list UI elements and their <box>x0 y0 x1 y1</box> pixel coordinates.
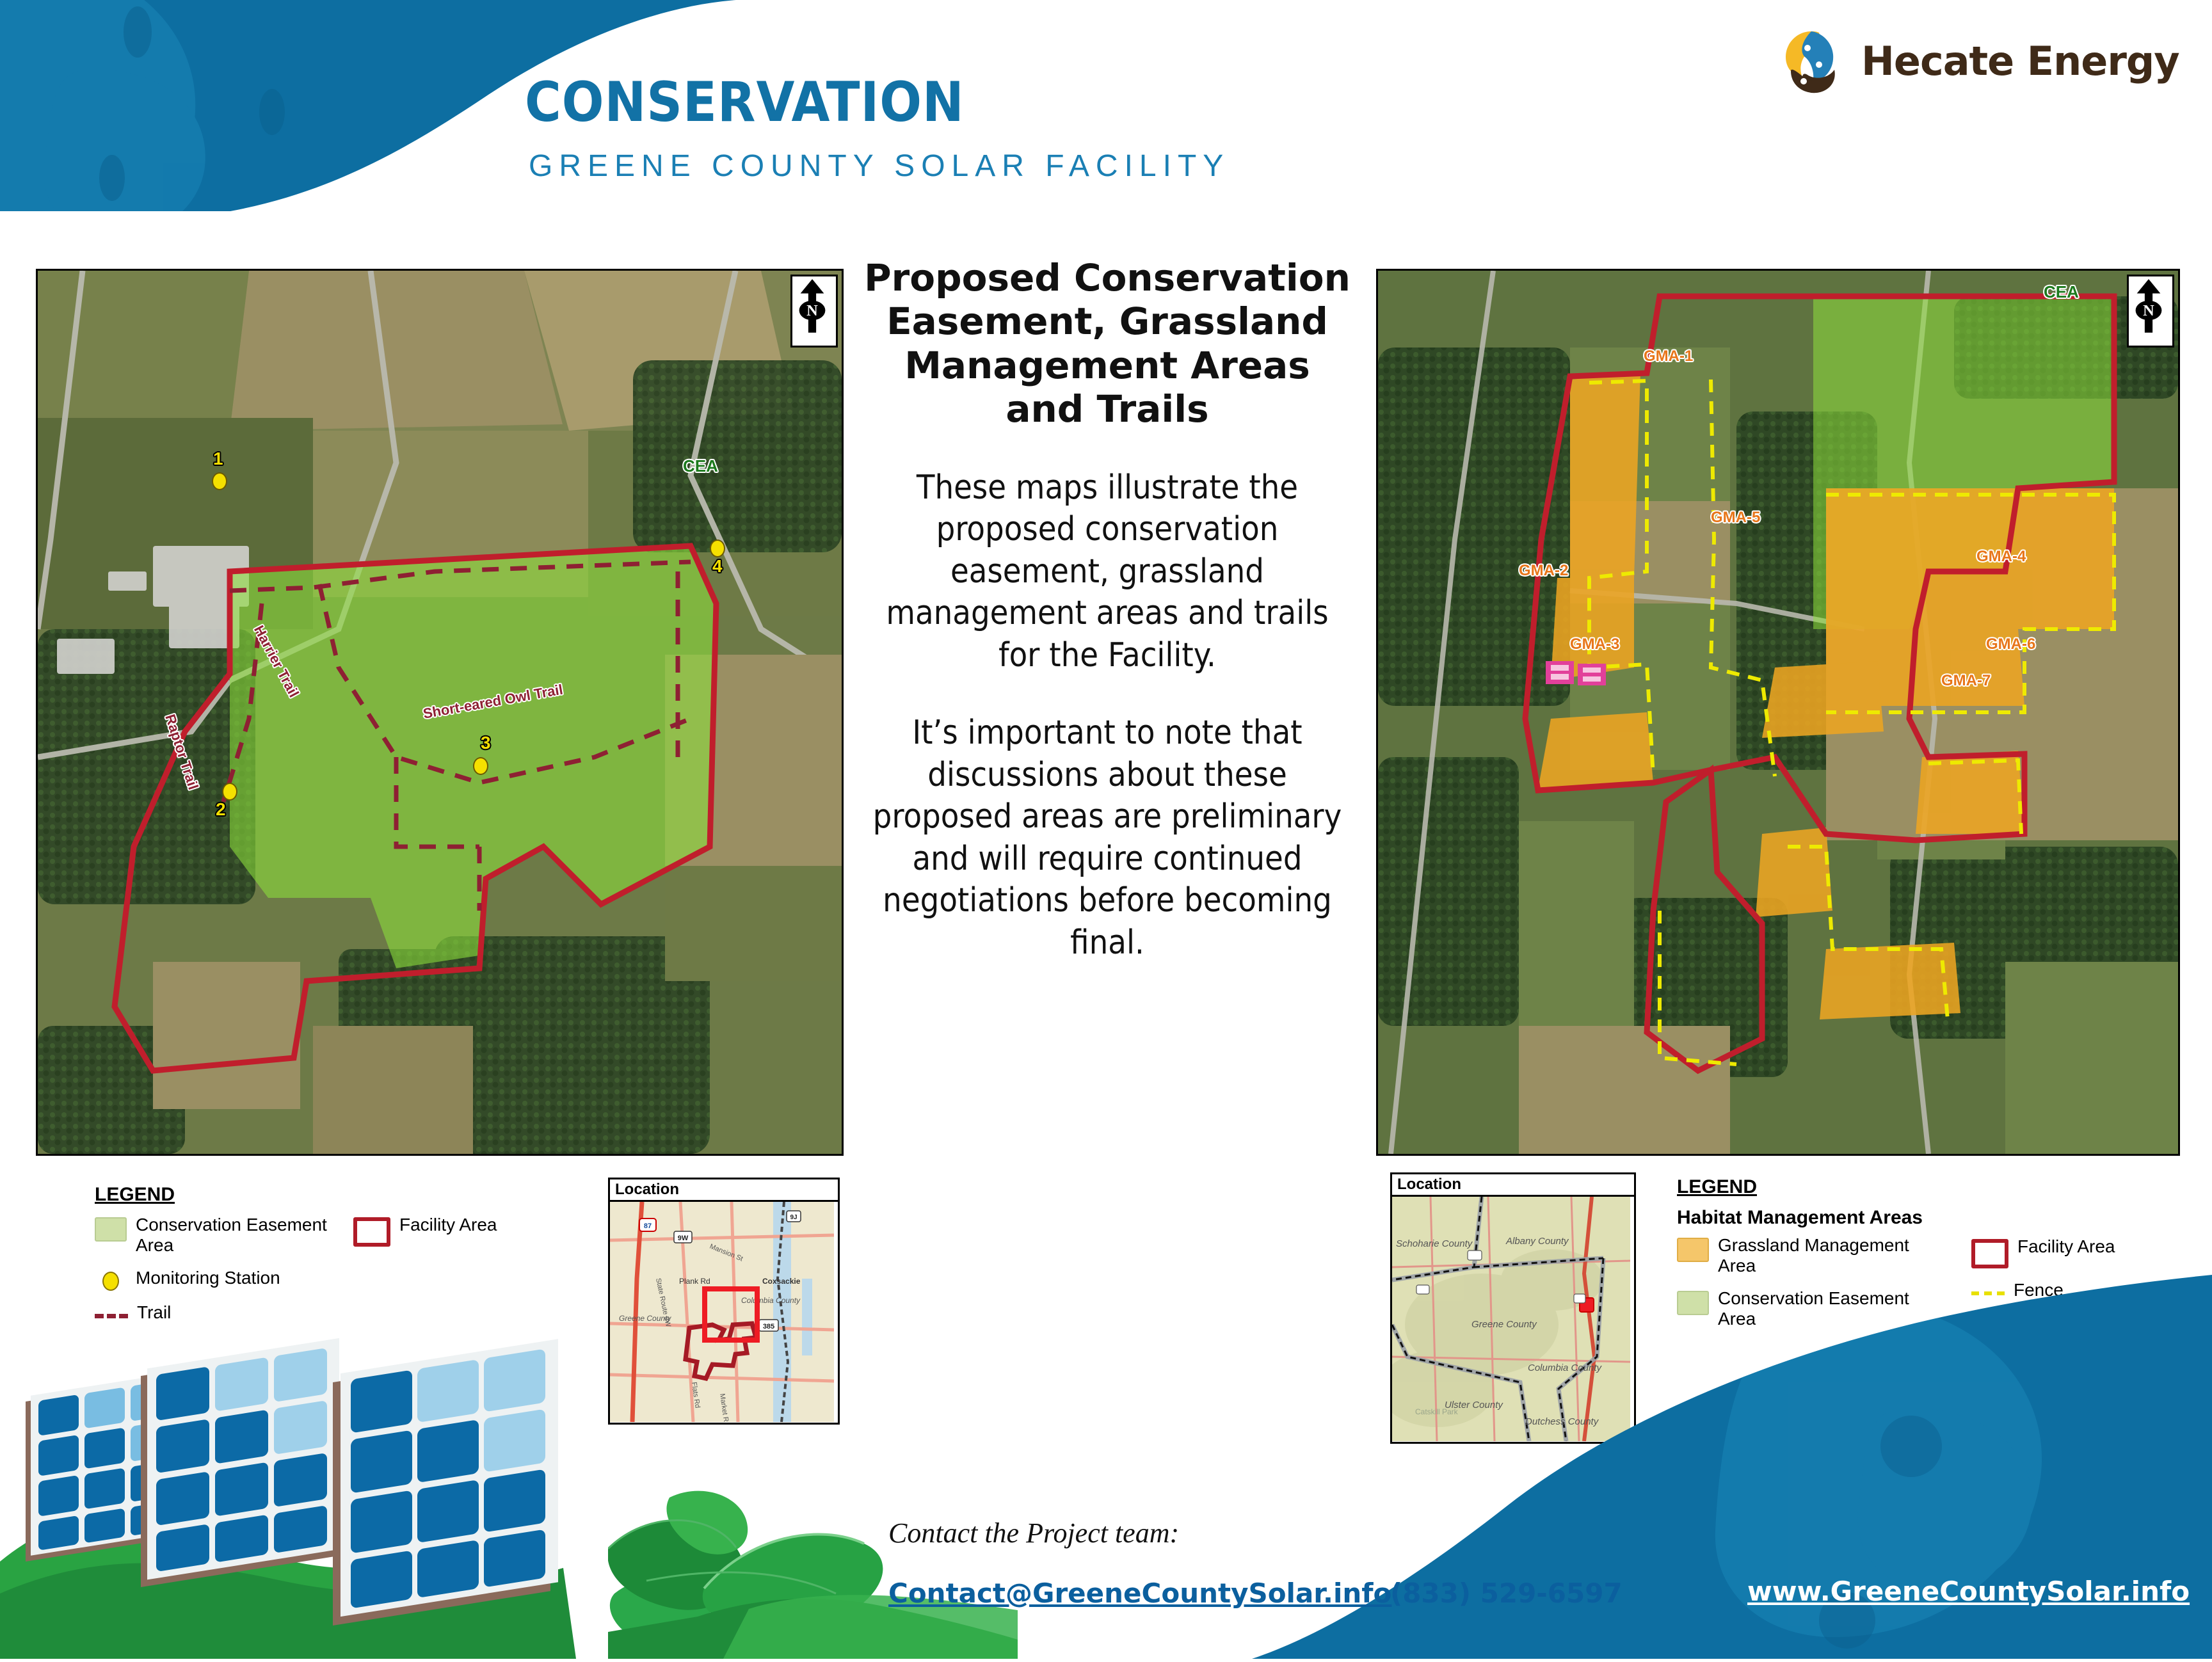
svg-text:N: N <box>806 302 818 319</box>
svg-text:9J: 9J <box>790 1214 797 1221</box>
legend-item-label: Monitoring Station <box>136 1268 280 1288</box>
legend-item-label: Facility Area <box>2017 1236 2115 1257</box>
intro-text-block: Proposed Conservation Easement, Grasslan… <box>864 256 1350 964</box>
inset-caption: Location <box>1392 1174 1634 1197</box>
facility-area-box-icon <box>1971 1239 2008 1268</box>
intro-paragraph-2: It’s important to note that discussions … <box>864 712 1350 964</box>
monitoring-station-dot-icon <box>102 1272 119 1291</box>
svg-text:Schoharie County: Schoharie County <box>1396 1238 1473 1249</box>
inset-caption: Location <box>610 1179 838 1202</box>
hecate-triskelion-icon <box>1773 22 1850 99</box>
legend-item-facility-area: Facility Area <box>1971 1236 2142 1268</box>
facility-area-box-icon <box>353 1217 390 1247</box>
monitoring-station-label: 2 <box>216 799 226 820</box>
svg-text:385: 385 <box>763 1323 774 1330</box>
svg-text:87: 87 <box>644 1222 652 1230</box>
svg-text:N: N <box>2143 302 2154 319</box>
contact-lead: Contact the Project team: <box>888 1517 1179 1549</box>
leaf-decoration <box>608 1472 1018 1659</box>
legend-title: LEGEND <box>95 1184 594 1206</box>
page-subtitle: GREENE COUNTY SOLAR FACILITY <box>529 148 1489 184</box>
contact-phone[interactable]: (833) 529-6597 <box>1390 1578 1623 1609</box>
monitoring-station-marker[interactable] <box>473 757 488 775</box>
contact-email[interactable]: Contact@GreeneCountySolar.info <box>888 1578 1391 1609</box>
map-habitat-management-areas[interactable]: N CEA GMA-1 GMA-5 GMA-2 GMA-4 GMA-3 GMA-… <box>1376 269 2180 1156</box>
legend-item-label: Conservation Easement Area <box>136 1215 328 1256</box>
legend-item-grassland-management: Grassland Management Area <box>1677 1235 1946 1277</box>
brand-name: Hecate Energy <box>1861 38 2179 84</box>
conservation-easement-swatch-icon <box>95 1217 127 1242</box>
svg-text:Albany County: Albany County <box>1505 1236 1569 1247</box>
svg-text:Plank Rd: Plank Rd <box>679 1277 710 1286</box>
monitoring-station-marker[interactable] <box>222 783 237 801</box>
legend-item-monitoring-station: Monitoring Station <box>95 1268 328 1291</box>
legend-item-conservation-easement: Conservation Easement Area <box>95 1215 328 1256</box>
monitoring-station-label: 1 <box>213 449 223 469</box>
north-arrow-icon: N <box>2127 275 2174 348</box>
intro-paragraph-1: These maps illustrate the proposed conse… <box>864 467 1350 677</box>
monitoring-station-label: 3 <box>481 733 491 753</box>
svg-text:Columbia County: Columbia County <box>741 1296 801 1305</box>
legend-item-facility-area: Facility Area <box>353 1215 497 1247</box>
monitoring-station-label: 4 <box>712 556 723 577</box>
brand-logo: Hecate Energy <box>1773 19 2195 102</box>
legend-item-label: Grassland Management Area <box>1718 1235 1910 1277</box>
contact-website[interactable]: www.GreeneCountySolar.info <box>1747 1576 2190 1607</box>
legend-item-label: Facility Area <box>399 1215 497 1235</box>
north-arrow-icon: N <box>790 275 838 348</box>
svg-text:9W: 9W <box>678 1235 689 1242</box>
monitoring-station-marker[interactable] <box>212 472 227 490</box>
intro-heading: Proposed Conservation Easement, Grasslan… <box>864 256 1350 431</box>
grassland-management-swatch-icon <box>1677 1238 1709 1262</box>
legend-subtitle: Habitat Management Areas <box>1677 1207 1946 1229</box>
legend-title: LEGEND <box>1677 1176 2202 1198</box>
map-conservation-easement[interactable]: N CEA Harrier Trail Short-eared Owl Trai… <box>36 269 844 1156</box>
svg-text:Coxsackie: Coxsackie <box>762 1277 801 1286</box>
monitoring-station-marker[interactable] <box>710 539 725 557</box>
page-title: CONSERVATION <box>525 70 1421 134</box>
